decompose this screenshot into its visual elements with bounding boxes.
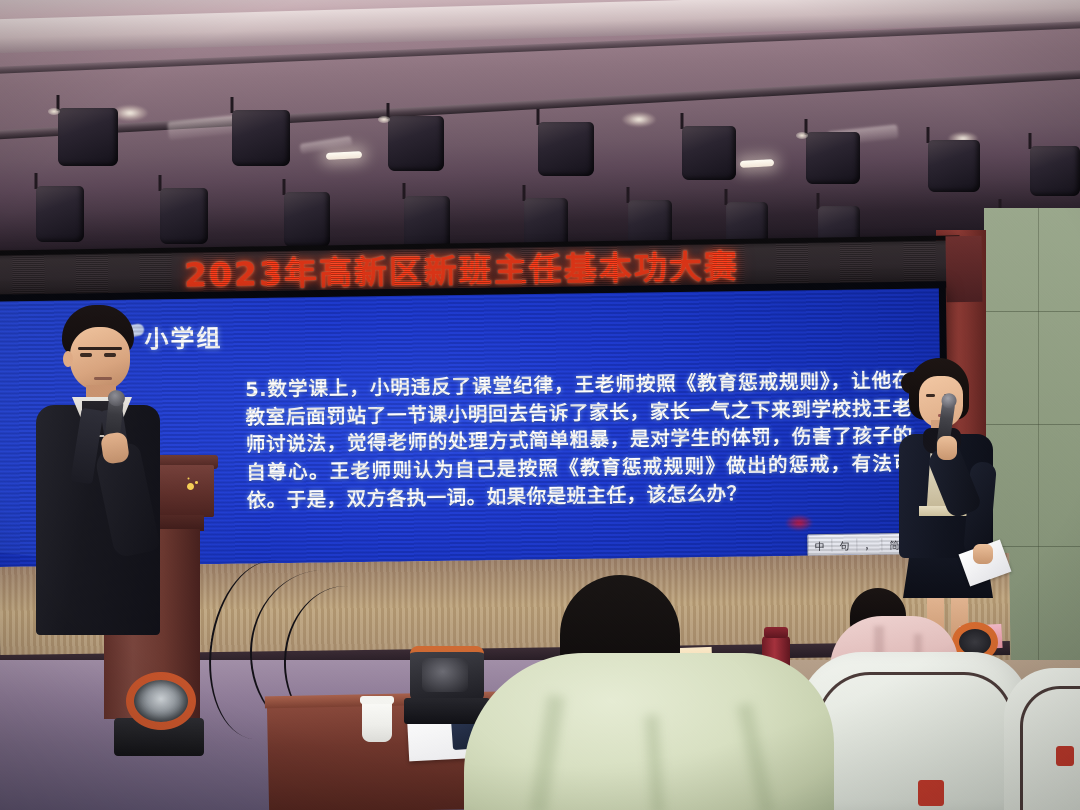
chair-cover-piping xyxy=(816,672,1014,810)
ime-separator xyxy=(831,538,832,551)
led-banner-end-cap xyxy=(945,236,982,303)
presenter-hand xyxy=(100,431,130,464)
chair-logo-icon xyxy=(918,780,944,806)
laser-pointer-dot xyxy=(786,515,812,530)
podium-logo-spark-icon xyxy=(187,483,194,490)
ceiling-linear-light xyxy=(326,151,362,160)
audience-green-coat xyxy=(498,575,828,810)
presenter-eye-left xyxy=(80,353,92,357)
ime-item-0[interactable]: 中 xyxy=(812,537,826,552)
ime-item-1[interactable]: 句 xyxy=(837,537,851,552)
presenter-mouth xyxy=(94,377,112,380)
moving-head-light-floor xyxy=(112,672,204,756)
ceiling-linear-light-2 xyxy=(740,159,774,168)
ceiling-downlight-2 xyxy=(622,112,656,127)
right-presenter-eye-left xyxy=(926,394,935,397)
paper-cup xyxy=(362,700,392,742)
ime-separator-3 xyxy=(881,538,882,551)
right-presenter-hand-left xyxy=(973,544,993,564)
right-presenter-hand-right xyxy=(937,436,957,460)
presenter-brow xyxy=(78,347,122,350)
left-presenter xyxy=(30,305,160,635)
ime-item-2[interactable]: ， xyxy=(862,537,876,552)
presenter-eye-right xyxy=(104,353,116,357)
stage-moving-light-foreground xyxy=(404,646,490,724)
chair-logo-icon-2 xyxy=(1056,746,1074,766)
presenter-ear xyxy=(63,351,73,367)
cup-lid xyxy=(360,696,394,704)
slide-body-text: 5.数学课上，小明违反了课堂纪律，王老师按照《教育惩戒规则》，让他在教室后面罚站… xyxy=(245,367,914,515)
audience-chair-covers xyxy=(798,628,1080,810)
ceiling xyxy=(0,0,1080,250)
presenter-face xyxy=(70,327,130,391)
auditorium-photo: 2023年高新区新班主任基本功大赛 小学组 5.数学课上，小明违反了课堂纪律，王… xyxy=(0,0,1080,810)
ime-separator-2 xyxy=(856,538,857,551)
